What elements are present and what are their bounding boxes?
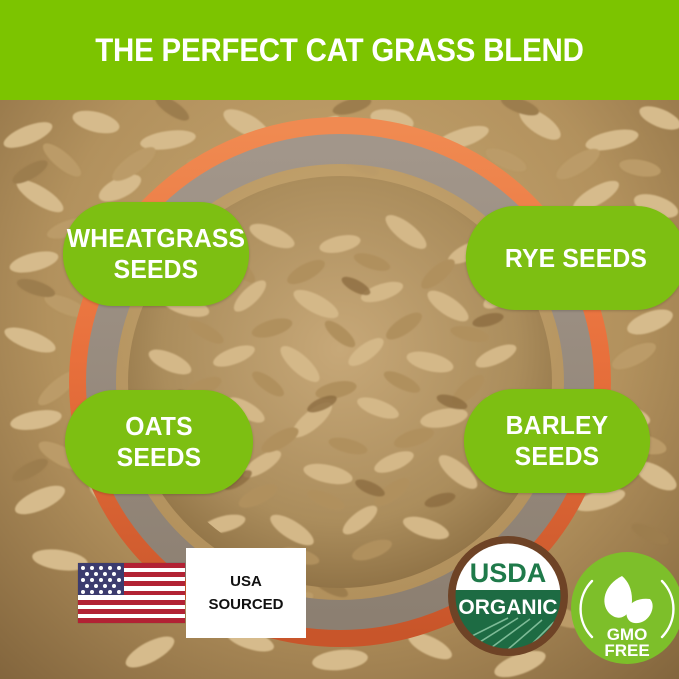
usa-sourced-line1: USA (230, 570, 262, 593)
label-wheatgrass-line2: SEEDS (114, 254, 199, 285)
usda-bottom-text: ORGANIC (458, 596, 557, 619)
label-barley-seeds: BARLEY SEEDS (464, 389, 650, 493)
label-wheatgrass-line1: WHEATGRASS (67, 223, 245, 254)
label-oats-line1: OATS (125, 411, 193, 442)
usa-flag-icon (78, 563, 185, 623)
gmo-free-line2: FREE (604, 641, 649, 660)
label-rye-seeds: RYE SEEDS (466, 206, 679, 310)
usda-top-text: USDA (470, 558, 547, 588)
label-oats-line2: SEEDS (117, 442, 202, 473)
usa-sourced-panel: USA SOURCED (186, 548, 306, 638)
header-banner: THE PERFECT CAT GRASS BLEND (0, 0, 679, 100)
gmo-free-badge: GMO FREE (570, 551, 679, 665)
label-wheatgrass-seeds: WHEATGRASS SEEDS (63, 202, 249, 306)
label-barley-line1: BARLEY (506, 410, 609, 441)
usda-organic-seal: USDA ORGANIC (446, 534, 570, 658)
usa-sourced-line2: SOURCED (208, 593, 283, 616)
infographic-canvas: THE PERFECT CAT GRASS BLEND WHEATGRASS S… (0, 0, 679, 679)
label-oats-seeds: OATS SEEDS (65, 390, 253, 494)
page-title: THE PERFECT CAT GRASS BLEND (95, 34, 583, 66)
label-rye-line1: RYE SEEDS (505, 243, 647, 274)
label-barley-line2: SEEDS (515, 441, 600, 472)
flag-canton (78, 563, 124, 595)
